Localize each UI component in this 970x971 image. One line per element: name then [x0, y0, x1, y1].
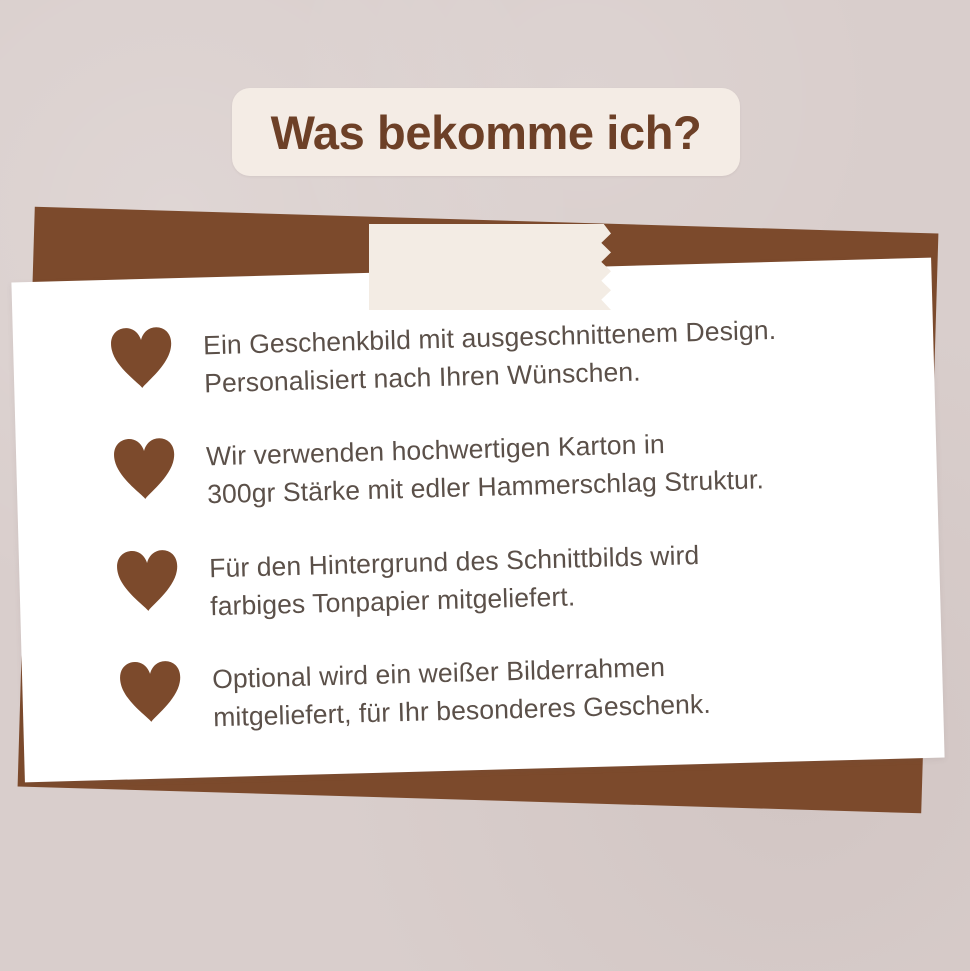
- list-item-text: Ein Geschenkbild mit ausgeschnittenem De…: [203, 308, 778, 403]
- page-title: Was bekomme ich?: [271, 109, 702, 156]
- list-item: Für den Hintergrund des Schnittbilds wir…: [115, 528, 879, 628]
- page-title-pill: Was bekomme ich?: [232, 88, 740, 176]
- slide-canvas: Was bekomme ich? Ein Geschenkbild mit au…: [0, 0, 970, 971]
- heart-icon: [115, 549, 181, 613]
- heart-icon: [112, 437, 178, 501]
- heart-icon: [109, 326, 175, 390]
- washi-tape-decoration: [369, 224, 611, 310]
- list-item: Wir verwenden hochwertigen Karton in 300…: [112, 417, 876, 517]
- heart-icon: [118, 660, 184, 724]
- list-item-text: Optional wird ein weißer Bilderrahmen mi…: [212, 644, 712, 737]
- list-item-text: Wir verwenden hochwertigen Karton in 300…: [206, 420, 765, 514]
- benefits-list: Ein Geschenkbild mit ausgeschnittenem De…: [11, 258, 944, 783]
- list-item: Ein Geschenkbild mit ausgeschnittenem De…: [109, 305, 873, 405]
- list-item-text: Für den Hintergrund des Schnittbilds wir…: [209, 533, 701, 626]
- list-item: Optional wird ein weißer Bilderrahmen mi…: [118, 639, 882, 739]
